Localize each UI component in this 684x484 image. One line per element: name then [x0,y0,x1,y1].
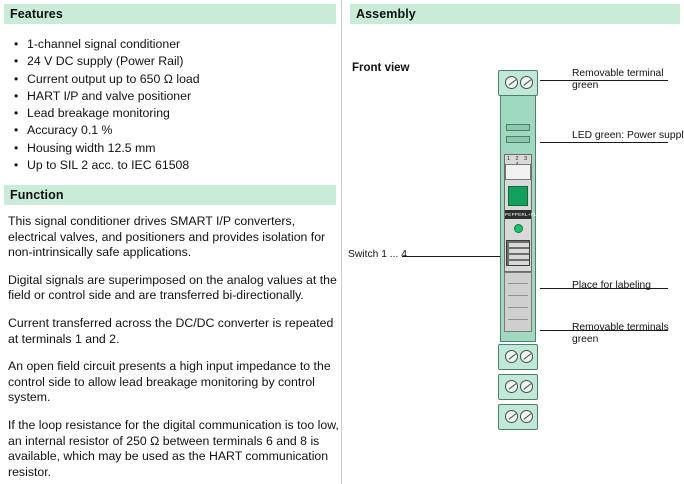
dip-switch [509,261,529,265]
housing-slot [506,136,530,143]
bullet-icon: • [14,105,18,122]
column-divider [341,0,342,484]
dip-switch [509,249,529,253]
callout-place-for-labeling: Place for labeling [572,280,684,292]
callout-led-green-power-supply: LED green: Power supply [572,130,684,142]
screw-icon [505,350,518,363]
list-item: •Current output up to 650 Ω load [10,71,340,88]
features-section-header: Features [4,4,336,24]
screw-icon [520,380,533,393]
list-item: •Housing width 12.5 mm [10,140,340,157]
led-indicator-icon [514,224,523,233]
screw-icon [520,76,533,89]
feature-text: Up to SIL 2 acc. to IEC 61508 [27,158,189,172]
screw-icon [520,350,533,363]
features-list: •1-channel signal conditioner •24 V DC s… [10,36,340,174]
panel-line [508,319,528,320]
screw-icon [520,410,533,423]
panel-line [508,283,528,284]
function-body: This signal conditioner drives SMART I/P… [8,214,340,484]
screw-icon [505,76,518,89]
terminal-block-top [498,70,538,96]
list-item: •24 V DC supply (Power Rail) [10,53,340,70]
panel-line [508,295,528,296]
feature-text: Accuracy 0.1 % [27,123,112,137]
green-marker-block [508,186,528,206]
function-paragraph: If the loop resistance for the digital c… [8,418,340,480]
bullet-icon: • [14,157,18,174]
dip-switch-bank [506,240,530,266]
callout-removable-terminals-green: Removable terminals green [572,322,684,347]
device-illustration: 1 2 3 4 PEPPERL+FUCHS [496,68,540,416]
front-view-label: Front view [352,62,410,74]
dip-switch [509,243,529,247]
feature-text: Housing width 12.5 mm [27,141,156,155]
callout-removable-terminal-green: Removable terminal green [572,68,684,93]
bullet-icon: • [14,122,18,139]
panel-line [508,307,528,308]
terminal-block-lower-1 [498,344,538,370]
feature-text: HART I/P and valve positioner [27,89,191,103]
list-item: •HART I/P and valve positioner [10,88,340,105]
function-paragraph: Digital signals are superimposed on the … [8,273,340,304]
labeling-window [505,164,531,180]
function-paragraph: An open field circuit presents a high in… [8,359,340,406]
list-item: •Lead breakage monitoring [10,105,340,122]
list-item: •Up to SIL 2 acc. to IEC 61508 [10,157,340,174]
lower-grey-panel [504,272,532,332]
document-page: Features •1-channel signal conditioner •… [0,0,684,484]
bullet-icon: • [14,53,18,70]
dip-switch [509,255,529,259]
feature-text: 1-channel signal conditioner [27,37,180,51]
assembly-section-header: Assembly [350,4,680,24]
bullet-icon: • [14,88,18,105]
list-item: •1-channel signal conditioner [10,36,340,53]
feature-text: Current output up to 650 Ω load [27,72,200,86]
housing-slot [506,124,530,131]
feature-text: 24 V DC supply (Power Rail) [27,54,184,68]
function-section-header: Function [4,185,336,205]
bullet-icon: • [14,71,18,88]
list-item: •Accuracy 0.1 % [10,122,340,139]
callout-switch-1-4: Switch 1 ... 4 [348,249,418,261]
screw-icon [505,380,518,393]
bullet-icon: • [14,140,18,157]
screw-icon [505,410,518,423]
bullet-icon: • [14,36,18,53]
terminal-block-lower-2 [498,374,538,400]
function-paragraph: This signal conditioner drives SMART I/P… [8,214,340,261]
terminal-block-lower-3 [498,404,538,430]
feature-text: Lead breakage monitoring [27,106,170,120]
brand-label: PEPPERL+FUCHS [505,210,531,219]
assembly-diagram: Front view 1 2 3 4 PEPPERL+FUCHS [350,30,684,480]
function-paragraph: Current transferred across the DC/DC con… [8,316,340,347]
